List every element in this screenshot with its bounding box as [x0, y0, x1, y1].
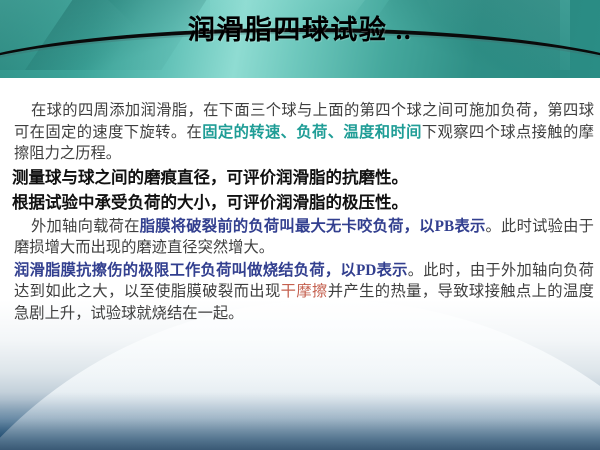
- paragraph-5-highlight-navy: 润滑脂膜抗擦伤的极限工作负荷叫做烧结负荷，以PD表示: [14, 262, 408, 279]
- paragraph-4: 外加轴向载荷在脂膜将破裂前的负荷叫最大无卡咬负荷，以PB表示。此时试验由于磨损增…: [0, 216, 600, 259]
- paragraph-1-highlight-teal: 固定的转速、负荷、温度和时间: [202, 124, 422, 141]
- slide-title: 润滑脂四球试验 ..: [0, 8, 600, 47]
- paragraph-5-highlight-red: 干摩擦: [281, 283, 328, 300]
- paragraph-1: 在球的四周添加润滑脂，在下面三个球与上面的第四个球之间可施加负荷，第四球可在固定…: [0, 100, 600, 165]
- paragraph-3: 根据试验中承受负荷的大小，可评价润滑脂的极压性。: [0, 191, 600, 215]
- paragraph-4-highlight-navy: 脂膜将破裂前的负荷叫最大无卡咬负荷，以PB表示: [140, 218, 486, 235]
- slide-body: 在球的四周添加润滑脂，在下面三个球与上面的第四个球之间可施加负荷，第四球可在固定…: [0, 100, 600, 325]
- paragraph-4-part-a: 外加轴向载荷在: [31, 218, 140, 235]
- paragraph-2: 测量球与球之间的磨痕直径，可评价润滑脂的抗磨性。: [0, 166, 600, 190]
- paragraph-5: 润滑脂膜抗擦伤的极限工作负荷叫做烧结负荷，以PD表示。此时，由于外加轴向负荷达到…: [0, 260, 600, 325]
- slide-canvas: 润滑脂四球试验 .. 在球的四周添加润滑脂，在下面三个球与上面的第四个球之间可施…: [0, 0, 600, 450]
